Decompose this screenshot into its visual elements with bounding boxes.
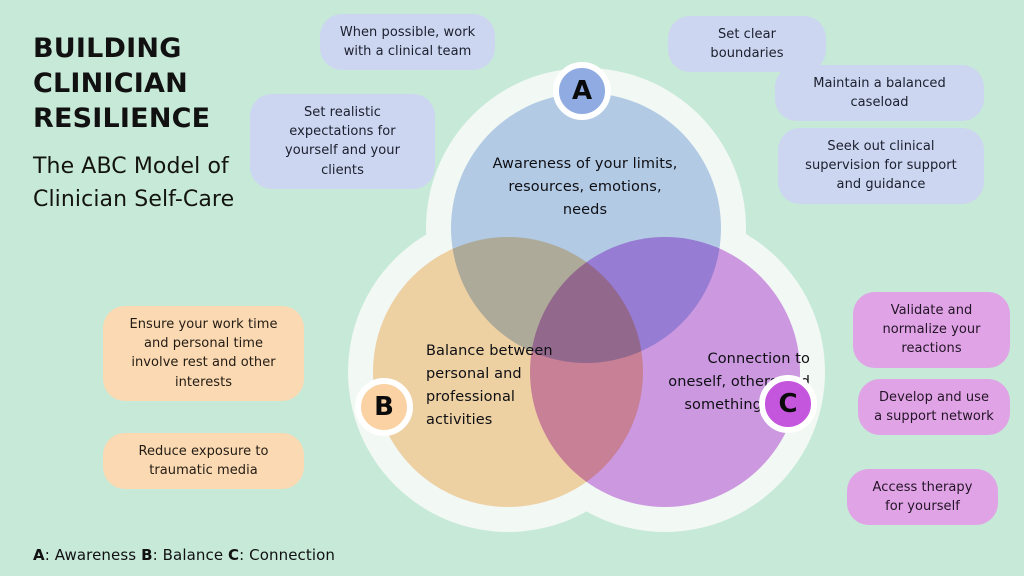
subtitle-line-1: The ABC Model of (33, 150, 234, 183)
venn-label-awareness: Awareness of your limits, resources, emo… (485, 153, 685, 222)
callout-connection-1[interactable]: Validate and normalize your reactions (853, 292, 1010, 368)
callout-awareness-4[interactable]: Maintain a balanced caseload (775, 65, 984, 121)
title-line-1: BUILDING (33, 31, 210, 66)
poster-canvas: BUILDING CLINICIAN RESILIENCE The ABC Mo… (0, 0, 1024, 576)
venn-label-balance: Balance between personal and professiona… (426, 340, 576, 432)
legend-value-b: : Balance (153, 546, 228, 564)
legend: A: Awareness B: Balance C: Connection (33, 546, 335, 564)
page-title: BUILDING CLINICIAN RESILIENCE (33, 31, 210, 136)
legend-key-a: A (33, 546, 45, 564)
page-subtitle: The ABC Model of Clinician Self-Care (33, 150, 234, 217)
subtitle-line-2: Clinician Self-Care (33, 183, 234, 216)
badge-b[interactable]: B (355, 378, 413, 436)
legend-key-c: C (228, 546, 239, 564)
legend-value-a: : Awareness (45, 546, 141, 564)
callout-connection-3[interactable]: Access therapy for yourself (847, 469, 998, 525)
callout-balance-1[interactable]: Ensure your work time and personal time … (103, 306, 304, 401)
badge-c[interactable]: C (759, 375, 817, 433)
callout-awareness-3[interactable]: Set clear boundaries (668, 16, 826, 72)
title-line-2: CLINICIAN (33, 66, 210, 101)
badge-a[interactable]: A (553, 62, 611, 120)
callout-balance-2[interactable]: Reduce exposure to traumatic media (103, 433, 304, 489)
legend-value-c: : Connection (239, 546, 335, 564)
legend-key-b: B (141, 546, 153, 564)
callout-awareness-2[interactable]: Set realistic expectations for yourself … (250, 94, 435, 189)
callout-connection-2[interactable]: Develop and use a support network (858, 379, 1010, 435)
callout-awareness-5[interactable]: Seek out clinical supervision for suppor… (778, 128, 984, 204)
callout-awareness-1[interactable]: When possible, work with a clinical team (320, 14, 495, 70)
title-line-3: RESILIENCE (33, 101, 210, 136)
